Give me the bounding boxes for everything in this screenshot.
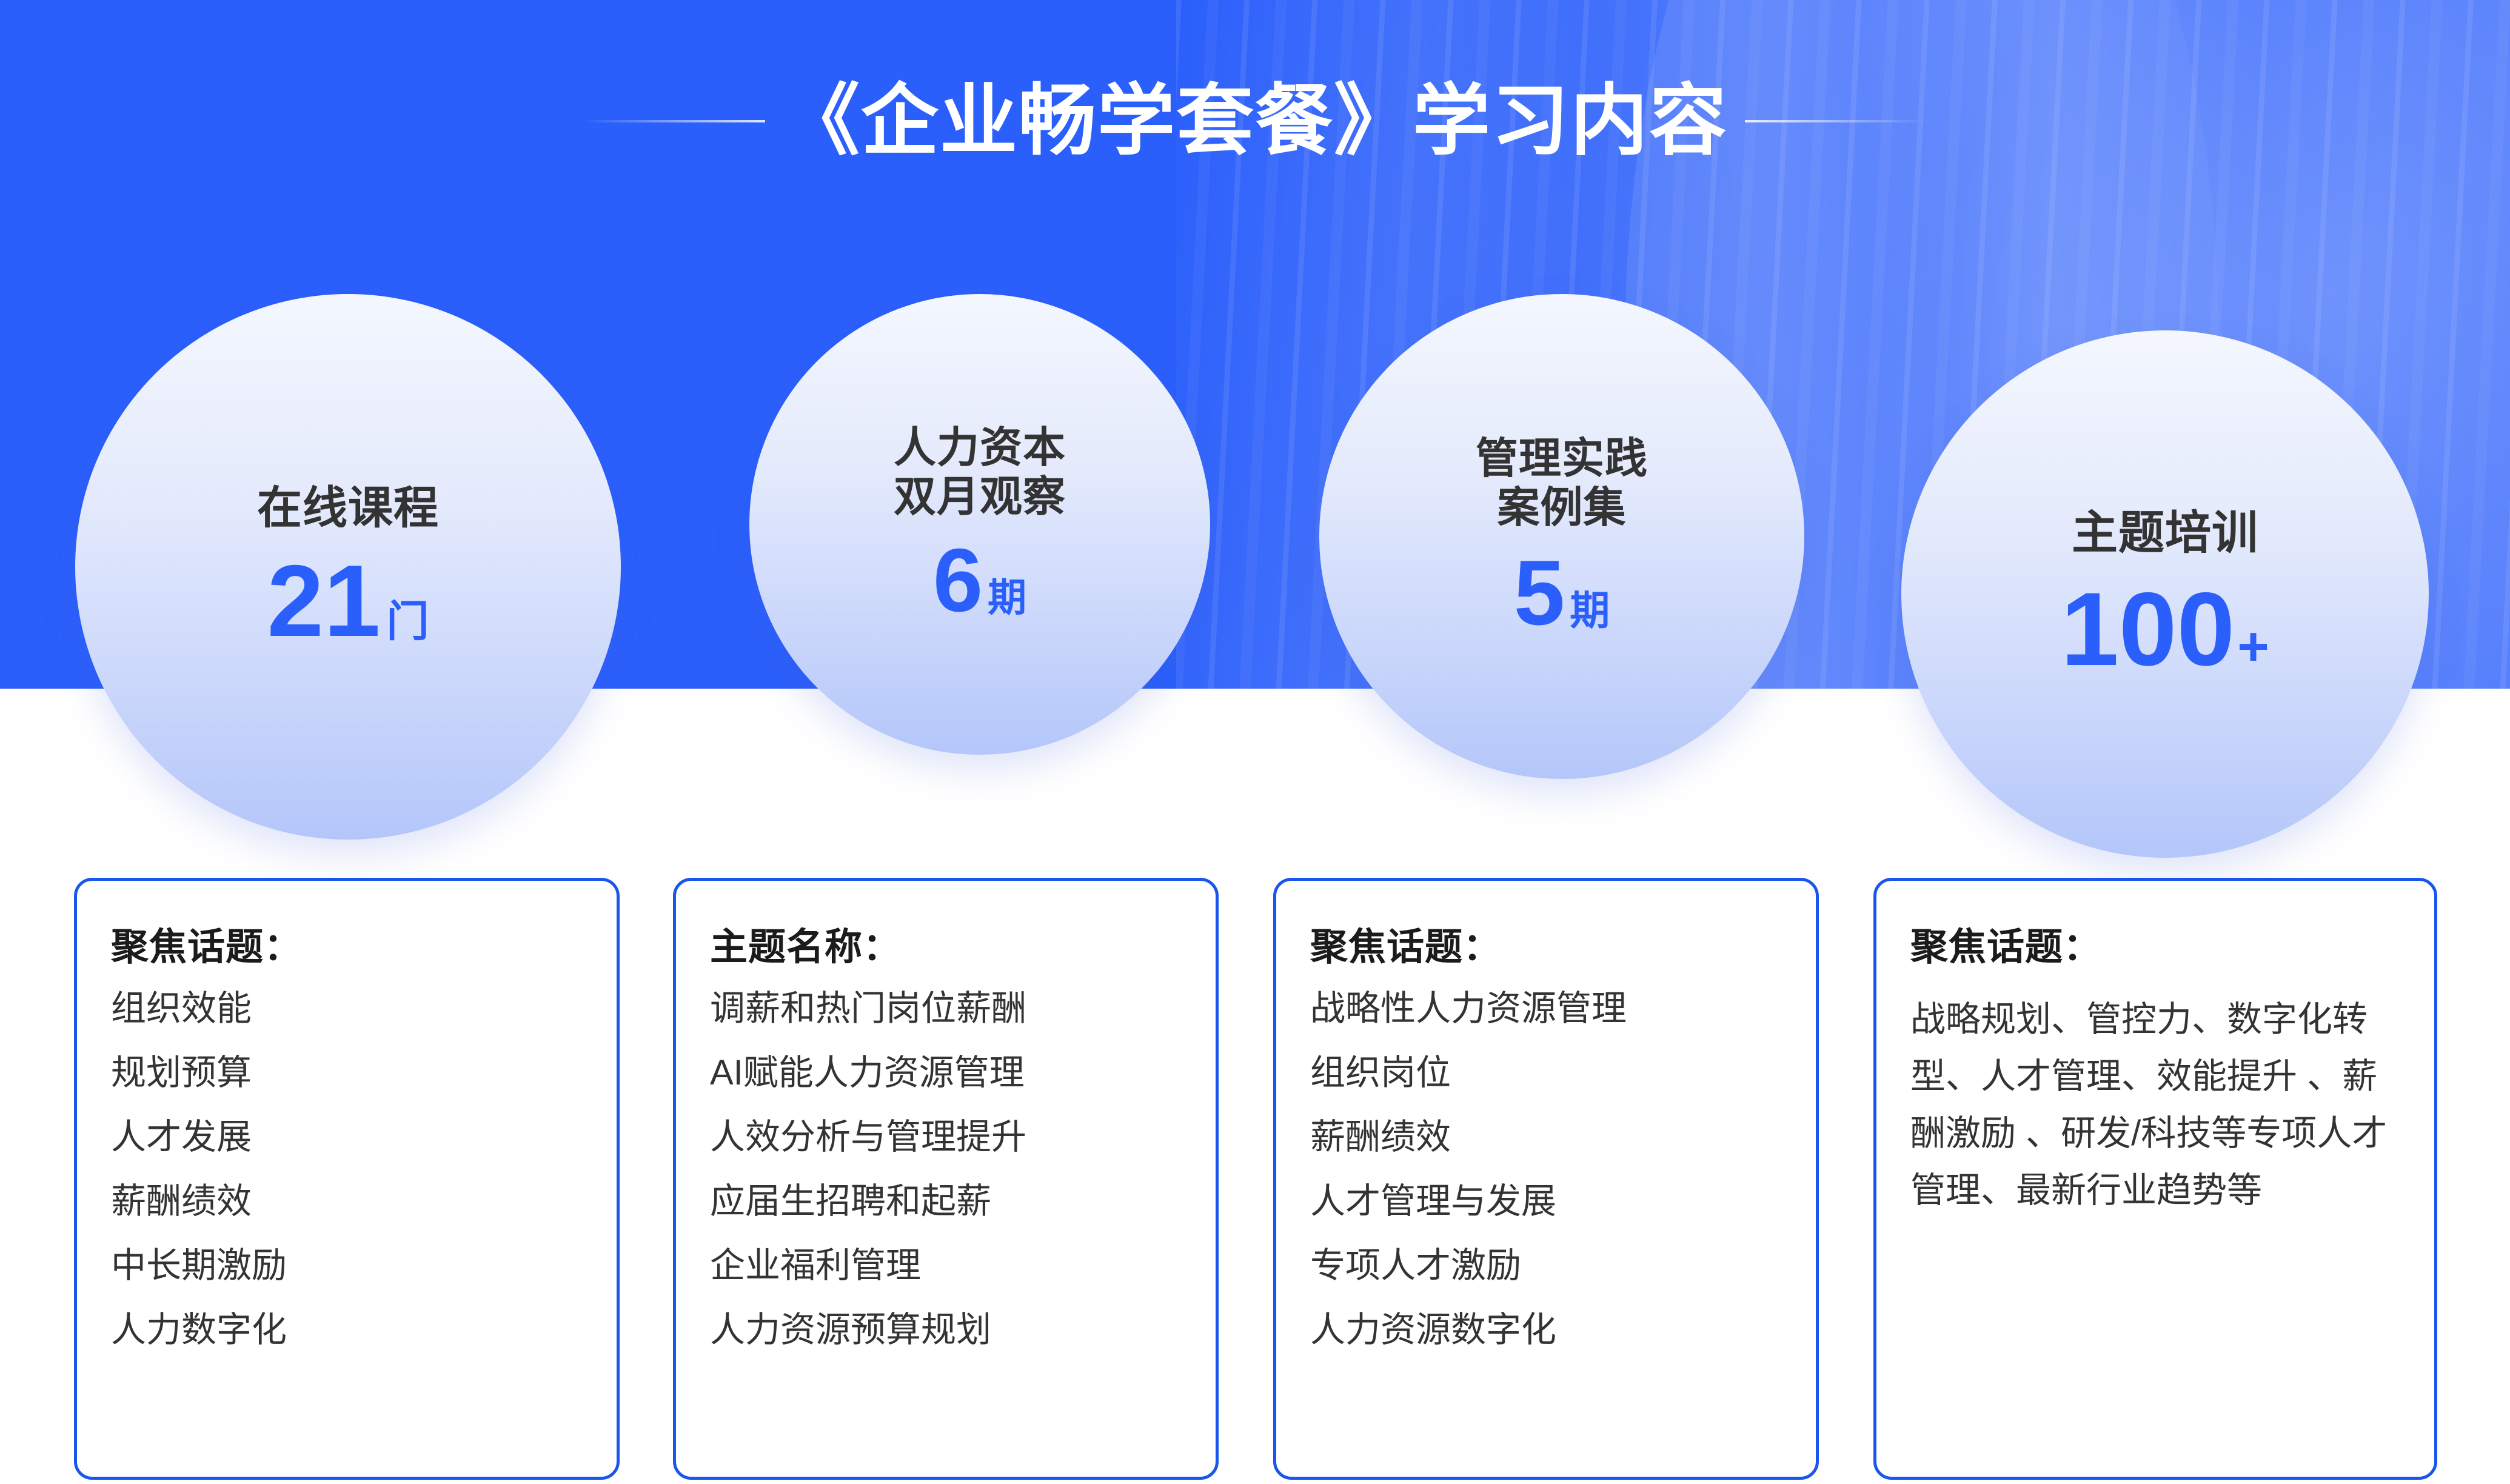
card-topic-list: 组织效能 规划预算 人才发展 薪酬绩效 中长期激励 人力数字化 xyxy=(111,991,583,1348)
stat-circle-value: 21 门 xyxy=(267,550,429,652)
stat-circle-title: 在线课程 xyxy=(257,482,439,534)
stat-circle-online-courses[interactable]: 在线课程 21 门 xyxy=(75,294,621,840)
stat-circle-management-practice-cases[interactable]: 管理实践 案例集 5 期 xyxy=(1319,294,1804,779)
card-heading: 主题名称： xyxy=(710,916,1182,971)
list-item: 薪酬绩效 xyxy=(111,1184,583,1219)
stat-unit: 期 xyxy=(988,578,1026,617)
card-topic-list: 调薪和热门岗位薪酬 AI赋能人力资源管理 人效分析与管理提升 应届生招聘和起薪 … xyxy=(710,991,1182,1348)
list-item: 调薪和热门岗位薪酬 xyxy=(710,991,1182,1026)
card-heading: 聚焦话题： xyxy=(1910,916,2400,971)
stat-number: 5 xyxy=(1514,547,1565,639)
stat-circle-title: 管理实践 案例集 xyxy=(1476,434,1648,532)
stat-number: 21 xyxy=(267,550,381,652)
list-item: 人力资源数字化 xyxy=(1310,1312,1782,1348)
list-item: 人力资源预算规划 xyxy=(710,1312,1182,1348)
stat-number: 100 xyxy=(2061,577,2235,681)
card-topic-paragraph: 战略规划、管控力、数字化转型、人才管理、效能提升 、薪酬激励 、研发/科技等专项… xyxy=(1910,991,2400,1219)
list-item: 组织岗位 xyxy=(1310,1055,1782,1091)
list-item: 人才发展 xyxy=(111,1120,583,1155)
stat-circle-title: 人力资本 双月观察 xyxy=(894,423,1066,521)
stat-number: 6 xyxy=(933,536,983,626)
list-item: 人才管理与发展 xyxy=(1310,1184,1782,1219)
list-item: 组织效能 xyxy=(111,991,583,1026)
list-item: 企业福利管理 xyxy=(710,1248,1182,1283)
stat-unit: 门 xyxy=(386,600,429,643)
topic-card-online-courses[interactable]: 聚焦话题： 组织效能 规划预算 人才发展 薪酬绩效 中长期激励 人力数字化 xyxy=(74,878,620,1480)
list-item: 人力数字化 xyxy=(111,1312,583,1348)
stat-circle-human-capital-observation[interactable]: 人力资本 双月观察 6 期 xyxy=(749,294,1210,755)
stat-unit: 期 xyxy=(1570,590,1610,630)
stat-circle-value: 5 期 xyxy=(1514,547,1610,639)
stat-circle-title-line2: 双月观察 xyxy=(894,472,1066,521)
stat-circle-title: 主题培训 xyxy=(2072,507,2258,560)
stat-circle-row: 在线课程 21 门 人力资本 双月观察 6 期 管理实践 案例集 5 期 主题培… xyxy=(0,0,2510,861)
list-item: AI赋能人力资源管理 xyxy=(710,1055,1182,1091)
stat-circle-thematic-training[interactable]: 主题培训 100 + xyxy=(1901,330,2429,858)
card-topic-list: 战略性人力资源管理 组织岗位 薪酬绩效 人才管理与发展 专项人才激励 人力资源数… xyxy=(1310,991,1782,1348)
list-item: 专项人才激励 xyxy=(1310,1248,1782,1283)
stat-circle-title-line1: 人力资本 xyxy=(894,423,1066,472)
card-heading: 聚焦话题： xyxy=(1310,916,1782,971)
stat-circle-title-line1: 管理实践 xyxy=(1476,434,1648,483)
list-item: 应届生招聘和起薪 xyxy=(710,1184,1182,1219)
stat-circle-title-line2: 案例集 xyxy=(1476,483,1648,532)
stat-unit: + xyxy=(2237,620,2269,674)
list-item: 人效分析与管理提升 xyxy=(710,1120,1182,1155)
topic-card-row: 聚焦话题： 组织效能 规划预算 人才发展 薪酬绩效 中长期激励 人力数字化 主题… xyxy=(0,878,2510,1484)
list-item: 薪酬绩效 xyxy=(1310,1120,1782,1155)
topic-card-bimonthly-observation[interactable]: 主题名称： 调薪和热门岗位薪酬 AI赋能人力资源管理 人效分析与管理提升 应届生… xyxy=(673,878,1219,1480)
list-item: 中长期激励 xyxy=(111,1248,583,1283)
stat-circle-value: 6 期 xyxy=(933,536,1026,626)
topic-card-thematic-training[interactable]: 聚焦话题： 战略规划、管控力、数字化转型、人才管理、效能提升 、薪酬激励 、研发… xyxy=(1873,878,2437,1480)
topic-card-case-collection[interactable]: 聚焦话题： 战略性人力资源管理 组织岗位 薪酬绩效 人才管理与发展 专项人才激励… xyxy=(1273,878,1819,1480)
card-heading: 聚焦话题： xyxy=(111,916,583,971)
list-item: 规划预算 xyxy=(111,1055,583,1091)
list-item: 战略性人力资源管理 xyxy=(1310,991,1782,1026)
stat-circle-value: 100 + xyxy=(2061,577,2269,681)
